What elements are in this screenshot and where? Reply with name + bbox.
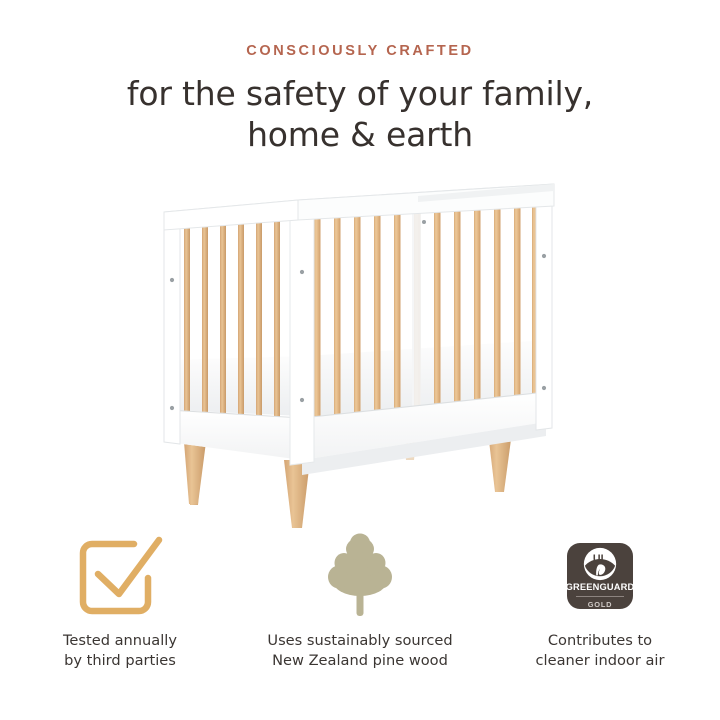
feature-item-sustainable-wood: Uses sustainably sourced New Zealand pin… <box>240 530 480 680</box>
feature-caption-air-line-2: cleaner indoor air <box>536 651 665 671</box>
feature-caption-sustainable-wood: Uses sustainably sourced New Zealand pin… <box>267 631 452 670</box>
page-title: for the safety of your family, home & ea… <box>0 73 720 155</box>
greenguard-gold-badge-icon: UL GREENGUARD GOLD <box>567 530 633 622</box>
crib-illustration <box>150 160 580 535</box>
page-title-line-2: home & earth <box>0 114 720 155</box>
eyebrow-text: CONSCIOUSLY CRAFTED <box>0 43 720 59</box>
feature-caption-tested: Tested annually by third parties <box>63 631 177 670</box>
svg-text:UL: UL <box>593 553 608 565</box>
tree-icon <box>323 530 397 622</box>
page-title-line-1: for the safety of your family, <box>0 73 720 114</box>
greenguard-badge-divider <box>576 596 624 597</box>
feature-caption-wood-line-2: New Zealand pine wood <box>267 651 452 671</box>
feature-item-greenguard: UL GREENGUARD GOLD Contributes to cleane… <box>480 530 720 680</box>
page-root: CONSCIOUSLY CRAFTED for the safety of yo… <box>0 0 720 720</box>
feature-list: Tested annually by third parties <box>0 530 720 680</box>
checkbox-check-icon <box>74 530 166 622</box>
feature-caption-wood-line-1: Uses sustainably sourced <box>267 631 452 651</box>
product-image-crib <box>150 160 580 535</box>
crib-side-panel <box>168 208 302 460</box>
ul-mark-icon: UL <box>583 547 617 581</box>
greenguard-badge-tier: GOLD <box>588 600 613 609</box>
crib-front-panel <box>302 194 546 475</box>
feature-caption-tested-line-1: Tested annually <box>63 631 177 651</box>
greenguard-badge-name: GREENGUARD <box>566 582 635 592</box>
feature-caption-air-line-1: Contributes to <box>536 631 665 651</box>
feature-item-tested: Tested annually by third parties <box>0 530 240 680</box>
feature-caption-tested-line-2: by third parties <box>63 651 177 671</box>
greenguard-badge: UL GREENGUARD GOLD <box>567 543 633 609</box>
feature-caption-greenguard: Contributes to cleaner indoor air <box>536 631 665 670</box>
